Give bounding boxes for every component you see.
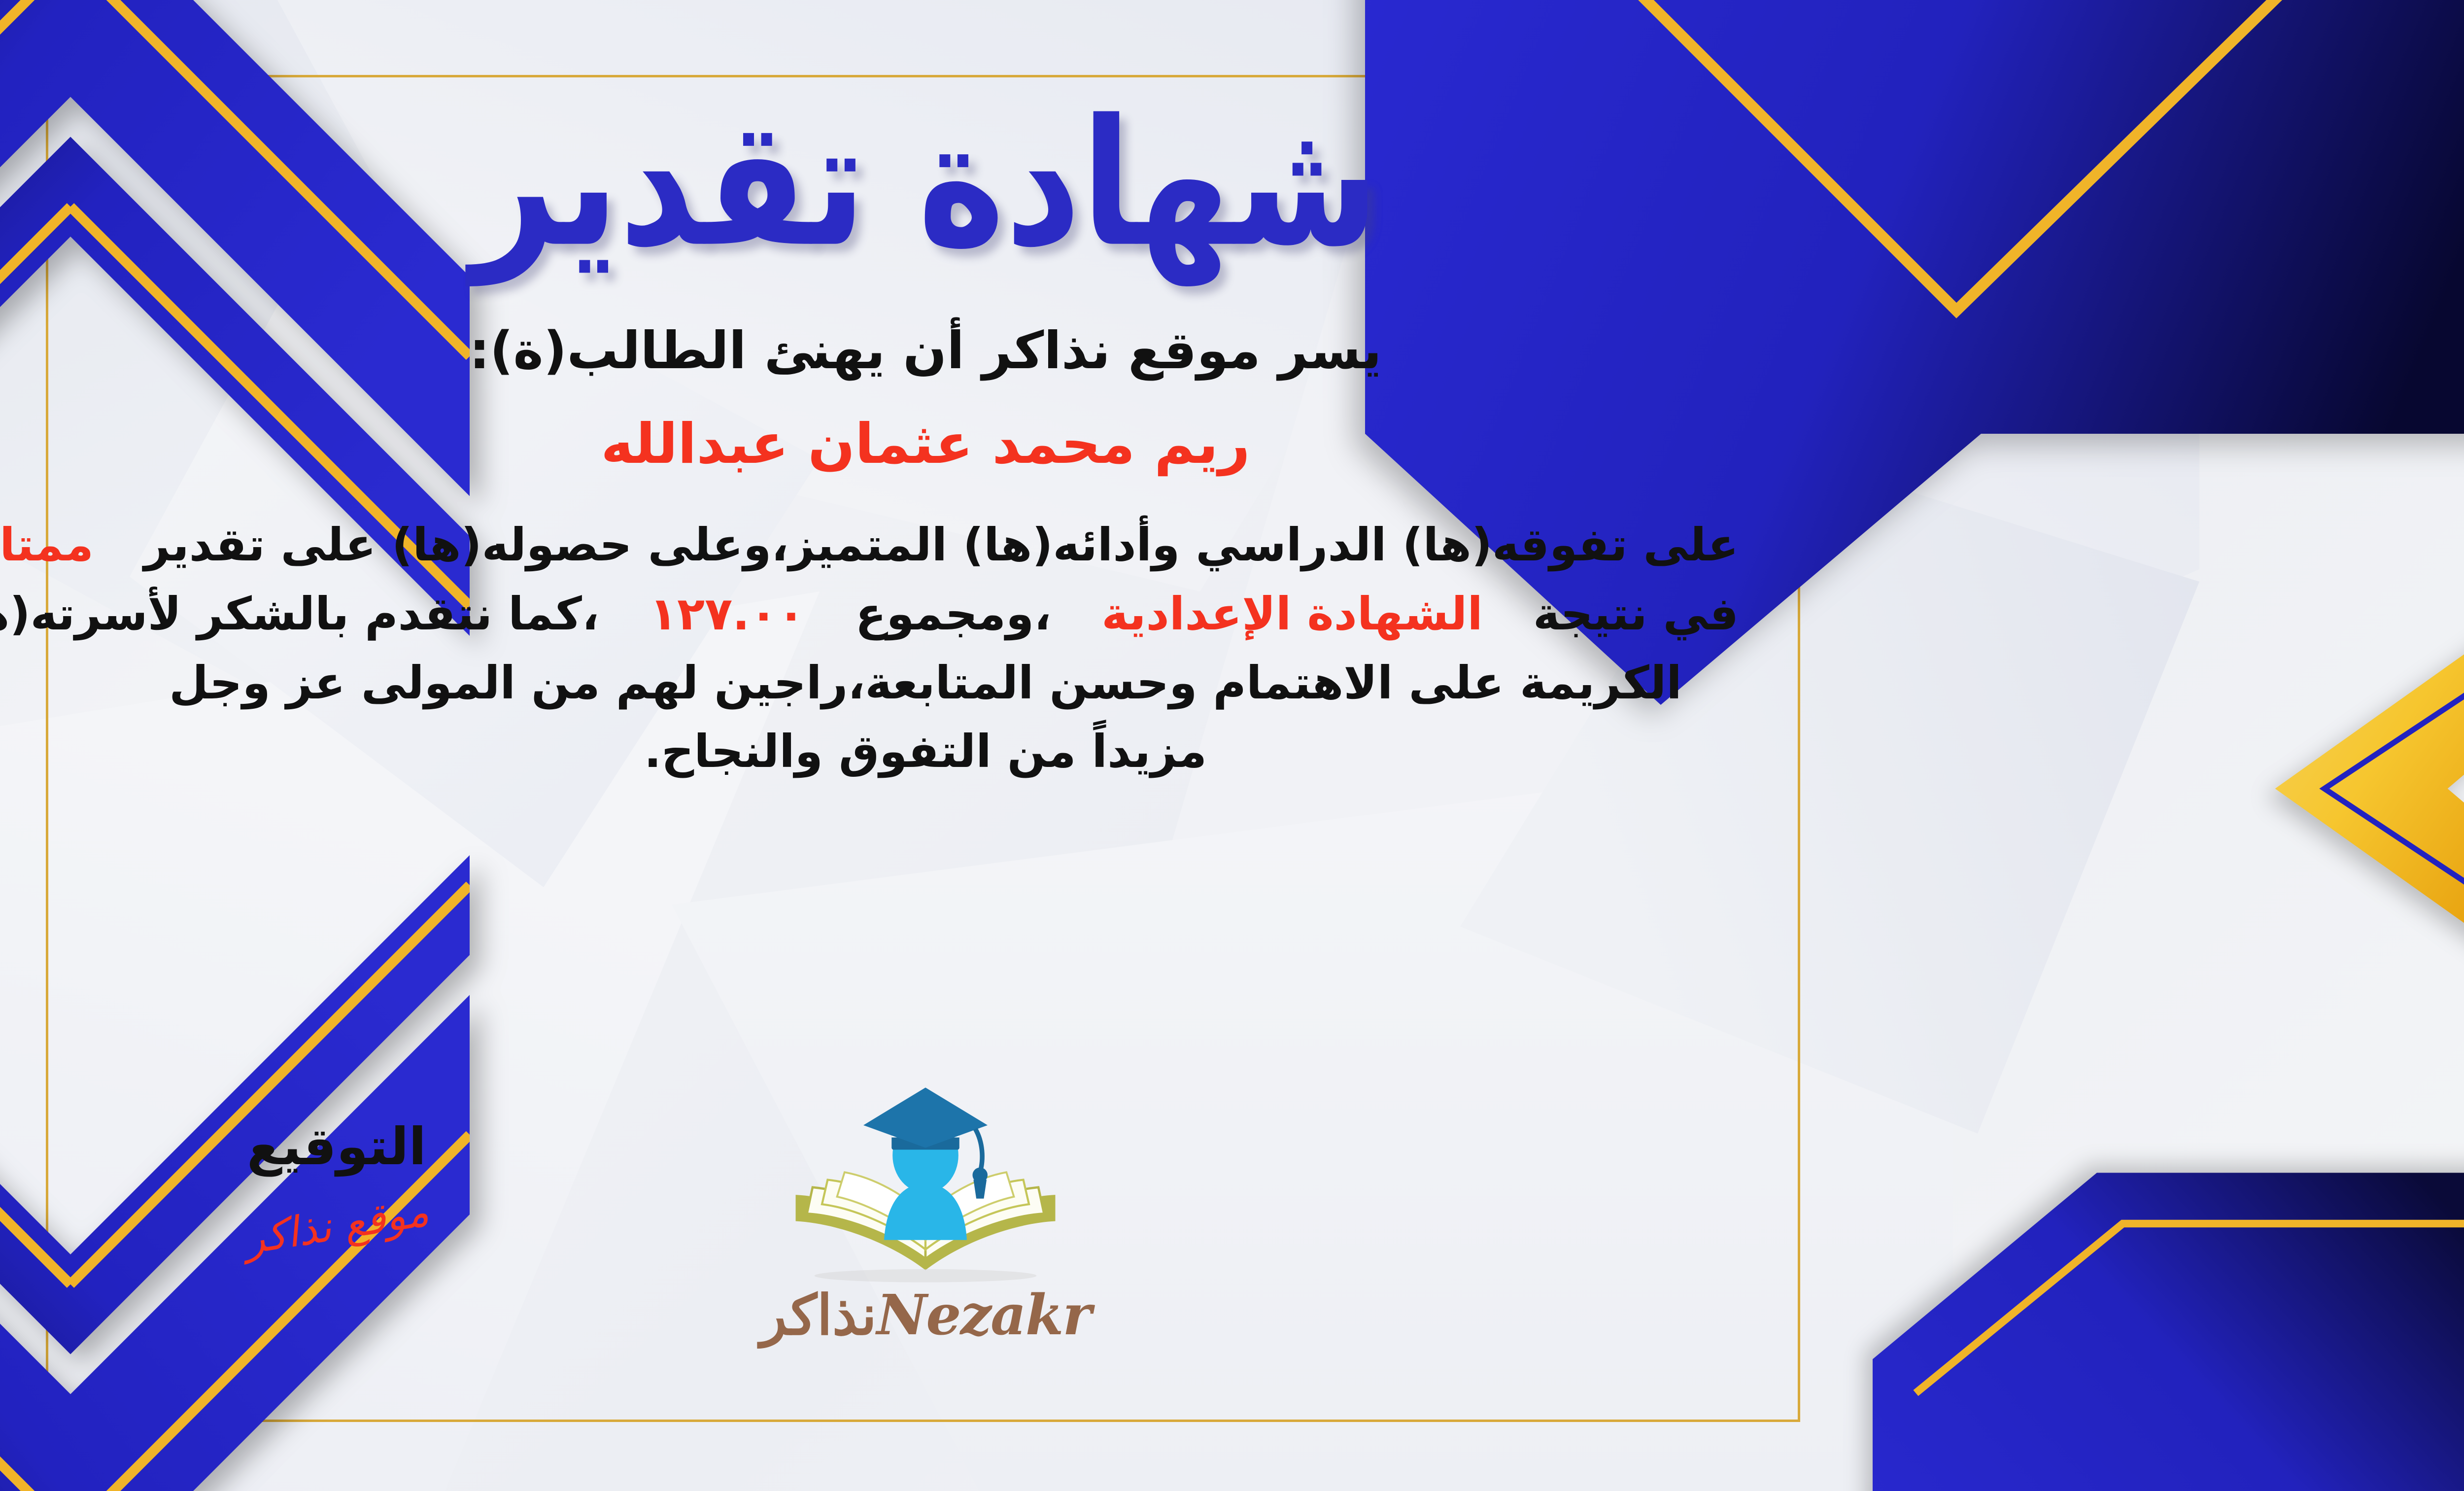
body-line-3: على تفوقه(ها) الدراسي وأدائه(ها) المتميز…: [112, 511, 1739, 580]
body-line-4-middle: ،ومجموع: [856, 588, 1052, 640]
corner-ornament-bottom-right: [1873, 1156, 2464, 1491]
certificate-footer: التوقيع موقع نذاكر: [66, 1077, 1785, 1383]
intro-text: يسر موقع نذاكر أن يهنئ الطالب(ة):: [469, 320, 1381, 381]
body-line-6: مزيداً من التفوق والنجاح.: [112, 717, 1739, 786]
student-name: ريم محمد عثمان عبدالله: [601, 412, 1250, 476]
certificate-content: شهادة تقدير يسر موقع نذاكر أن يهنئ الطال…: [66, 86, 1785, 1412]
logo-latin-text: Nezakr: [877, 1283, 1091, 1348]
exam-name: الشهادة الإعدادية: [1101, 588, 1483, 640]
logo-wordmark: Nezakrنذاكر: [760, 1283, 1091, 1348]
body-line-4-suffix: ،كما نتقدم بالشكر لأسرته(ها): [0, 588, 599, 640]
total-score: ١٢٧.٠٠: [650, 588, 805, 640]
grade-value: ممتاز: [0, 519, 94, 571]
body-line-5: الكريمة على الاهتمام وحسن المتابعة،راجين…: [112, 649, 1739, 718]
graduate-book-logo-icon: [773, 1082, 1078, 1289]
certificate-title: شهادة تقدير: [472, 92, 1379, 276]
body-line-3-text: على تفوقه(ها) الدراسي وأدائه(ها) المتميز…: [144, 519, 1739, 571]
body-paragraph: على تفوقه(ها) الدراسي وأدائه(ها) المتميز…: [112, 511, 1739, 786]
body-line-4-prefix: في نتيجة: [1533, 588, 1739, 640]
logo-arabic-text: نذاكر: [760, 1283, 877, 1348]
certificate-canvas: شهادة تقدير يسر موقع نذاكر أن يهنئ الطال…: [0, 0, 2464, 1491]
corner-ornament-gold-chevron: [2094, 567, 2464, 1010]
site-logo: Nezakrنذاكر: [66, 1082, 1785, 1348]
body-line-4: في نتيجة الشهادة الإعدادية ،ومجموع ١٢٧.٠…: [112, 580, 1739, 649]
